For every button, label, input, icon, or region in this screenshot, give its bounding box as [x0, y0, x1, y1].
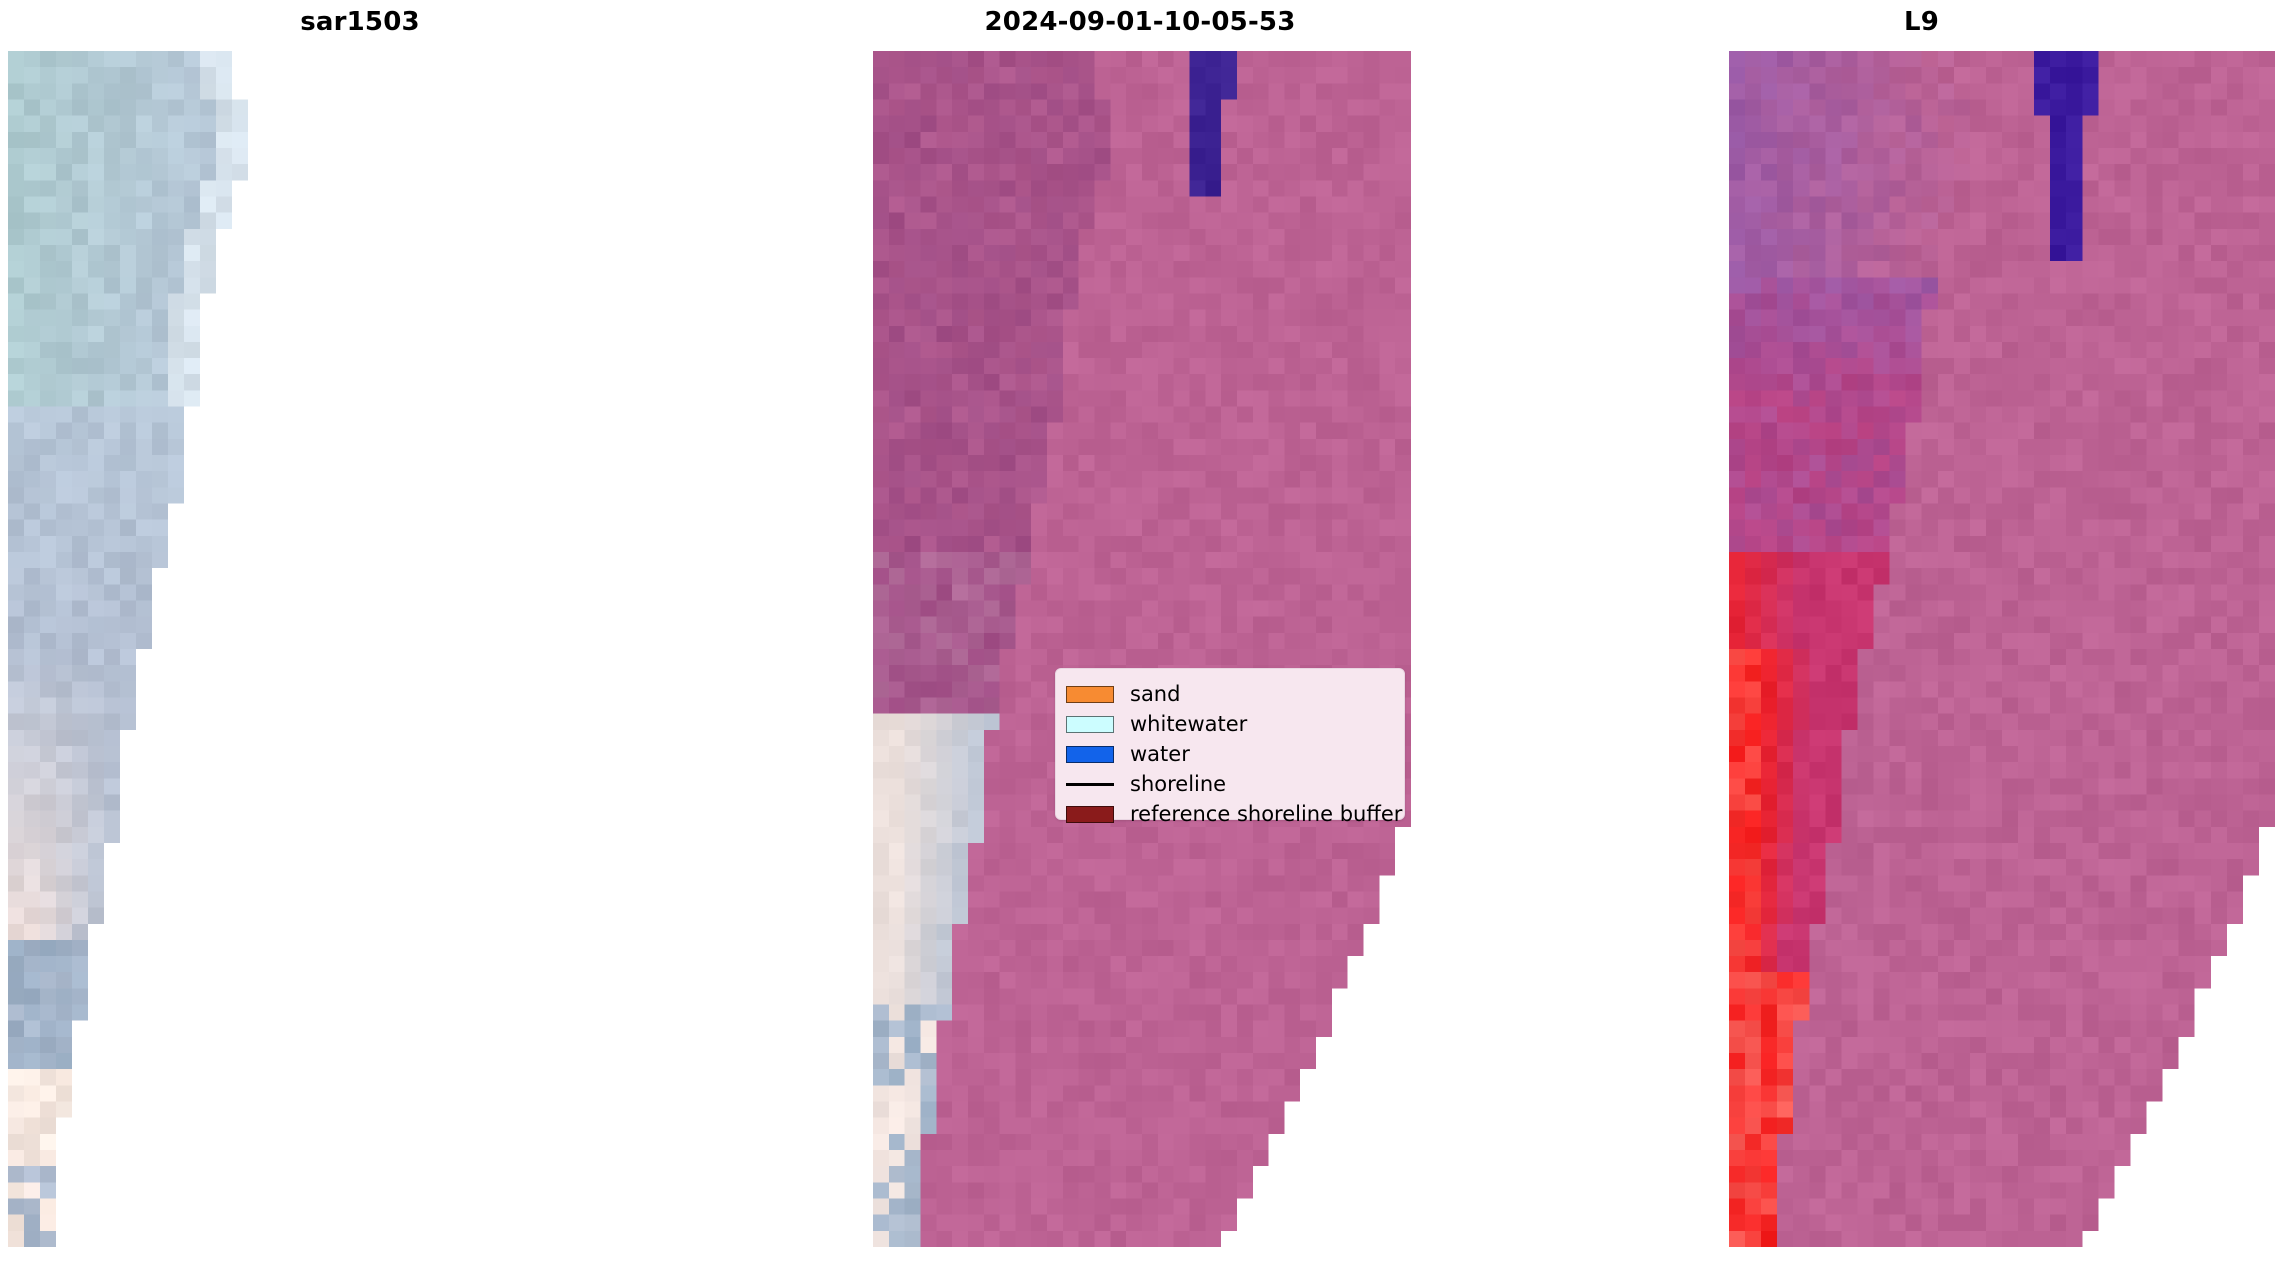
legend-item-whitewater[interactable]: whitewater: [1066, 709, 1392, 739]
legend-label-shoreline: shoreline: [1130, 774, 1226, 795]
legend-item-water[interactable]: water: [1066, 739, 1392, 769]
axes-right[interactable]: [1729, 51, 2275, 1247]
panel-title-center: 2024-09-01-10-05-53: [720, 6, 1560, 38]
legend-label-water: water: [1130, 744, 1190, 765]
axes-left[interactable]: [8, 51, 360, 1247]
legend-label-sand: sand: [1130, 684, 1180, 705]
legend-item-sand[interactable]: sand: [1066, 679, 1392, 709]
index-image-panel: L9: [1560, 0, 2283, 1283]
whitewater-swatch-icon: [1066, 716, 1114, 733]
rgb-image-panel: sar1503: [0, 0, 720, 1283]
legend-item-shoreline[interactable]: shoreline: [1066, 769, 1392, 799]
reference-buffer-swatch-icon: [1066, 806, 1114, 823]
legend-label-reference-buffer: reference shoreline buffer: [1130, 804, 1402, 825]
sand-swatch-icon: [1066, 686, 1114, 703]
shoreline-line-icon: [1066, 783, 1114, 786]
class-legend[interactable]: sand whitewater water shoreline referenc…: [1055, 668, 1405, 820]
raster-index: [1729, 51, 2275, 1247]
panel-title-right: L9: [1560, 6, 2283, 38]
raster-overlay: [873, 51, 1411, 1247]
figure-canvas: sar1503 2024-09-01-10-05-53 L9 sand whit…: [0, 0, 2283, 1283]
panel-title-left: sar1503: [0, 6, 720, 38]
raster-sar1503: [8, 51, 360, 1247]
classified-overlay-panel: 2024-09-01-10-05-53: [720, 0, 1560, 1283]
axes-center[interactable]: [873, 51, 1411, 1247]
legend-label-whitewater: whitewater: [1130, 714, 1247, 735]
legend-item-reference-shoreline-buffer[interactable]: reference shoreline buffer: [1066, 799, 1392, 829]
water-swatch-icon: [1066, 746, 1114, 763]
